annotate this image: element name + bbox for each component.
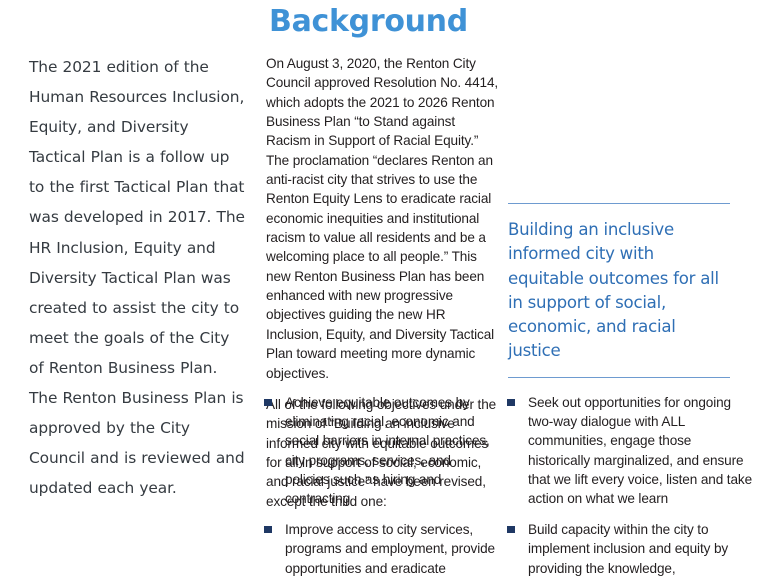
intro-column: The 2021 edition of the Human Resources …: [29, 52, 247, 503]
square-bullet-icon: [507, 526, 515, 534]
objectives-right-column: Seek out opportunities for ongoing two-w…: [507, 393, 755, 578]
list-item: Seek out opportunities for ongoing two-w…: [507, 393, 755, 508]
square-bullet-icon: [264, 526, 272, 534]
square-bullet-icon: [507, 399, 515, 407]
list-item: Achieve equitable outcomes by eliminatin…: [264, 393, 496, 508]
objectives-list-left: Achieve equitable outcomes by eliminatin…: [264, 393, 496, 582]
square-bullet-icon: [264, 399, 272, 407]
intro-paragraph: The 2021 edition of the Human Resources …: [29, 52, 247, 503]
list-item-text: Seek out opportunities for ongoing two-w…: [528, 395, 752, 506]
list-item: Improve access to city services, program…: [264, 520, 496, 582]
objectives-list-right: Seek out opportunities for ongoing two-w…: [507, 393, 755, 578]
document-page: The 2021 edition of the Human Resources …: [0, 0, 768, 582]
page-title: Background: [269, 3, 468, 41]
pull-quote-text: Building an inclusive informed city with…: [508, 218, 730, 364]
list-item-text: Build capacity within the city to implem…: [528, 522, 728, 575]
list-item-text: Achieve equitable outcomes by eliminatin…: [285, 395, 490, 506]
list-item: Build capacity within the city to implem…: [507, 520, 755, 578]
pull-quote: Building an inclusive informed city with…: [508, 203, 730, 378]
objectives-left-column: Achieve equitable outcomes by eliminatin…: [264, 393, 496, 582]
list-item-text: Improve access to city services, program…: [285, 522, 495, 582]
